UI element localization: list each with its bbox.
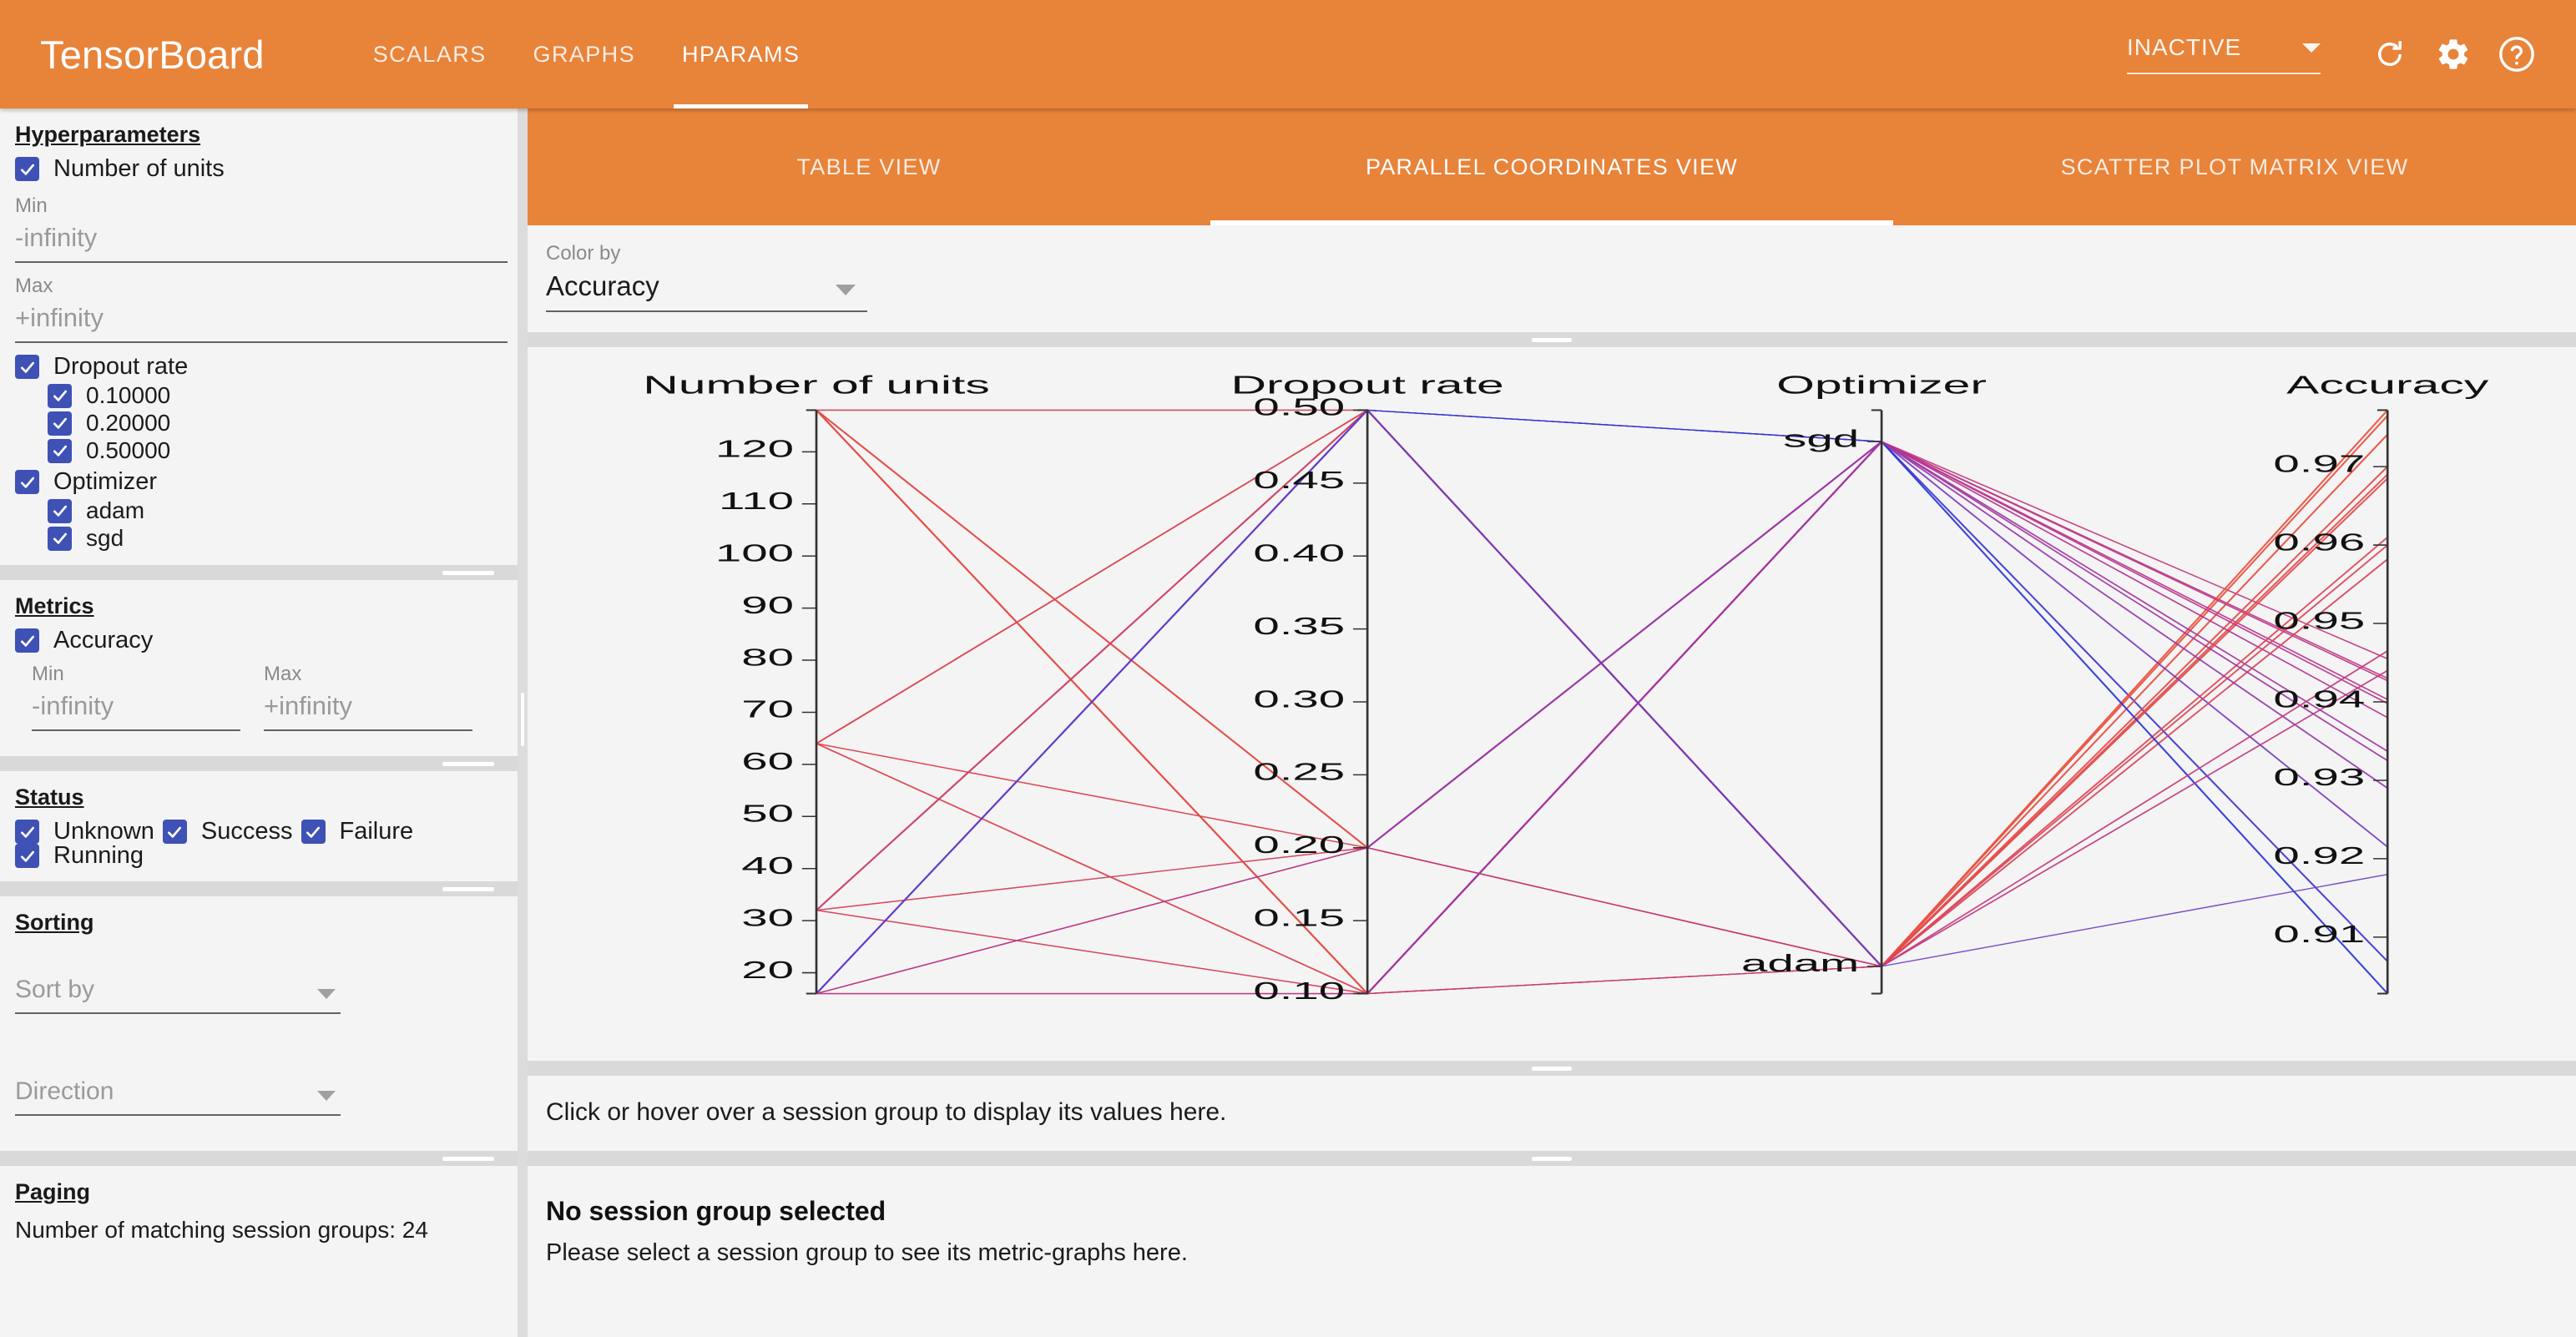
pc-axis-tick-label: 0.94: [2273, 685, 2365, 713]
header-actions: INACTIVE: [2127, 28, 2543, 80]
pc-line: [816, 441, 2387, 848]
pc-axis-tick-label: 50: [741, 800, 794, 827]
dropout-value-label: 0.50000: [86, 437, 170, 464]
hparam-number-of-units[interactable]: Number of units: [15, 155, 518, 183]
sidebar-divider-1[interactable]: [0, 565, 518, 580]
pc-axis-tick-label: 60: [741, 748, 794, 775]
pc-axis-tick-label: 110: [719, 487, 794, 515]
parallel-coordinates-chart[interactable]: Number of units2030405060708090100110120…: [528, 347, 2576, 1061]
pc-axis-tick-label: 0.91: [2273, 921, 2365, 948]
pc-axis-tick-label: adam: [1741, 950, 1859, 977]
status-failure[interactable]: Failure: [301, 818, 414, 845]
session-panel-subtitle: Please select a session group to see its…: [546, 1239, 1188, 1267]
pc-line: [816, 441, 2387, 993]
pc-line: [816, 410, 2387, 966]
dropout-value-label: 0.20000: [86, 410, 170, 436]
pc-axis-tick-label: 0.15: [1253, 904, 1345, 931]
view-tabs: TABLE VIEW PARALLEL COORDINATES VIEW SCA…: [528, 108, 2576, 225]
accuracy-min-label: Min: [32, 663, 240, 686]
chevron-down-icon: [836, 285, 856, 295]
checkbox-checked-icon[interactable]: [15, 628, 39, 653]
tab-scatter-plot-matrix-view[interactable]: SCATTER PLOT MATRIX VIEW: [1893, 108, 2576, 225]
pc-line: [816, 441, 2387, 993]
pc-axis-tick-label: 0.25: [1253, 758, 1345, 785]
status-running[interactable]: Running: [15, 842, 144, 870]
pc-axis-tick-label: 20: [741, 956, 794, 983]
color-by-select[interactable]: Color by Accuracy: [546, 242, 867, 312]
pc-line: [816, 410, 2387, 966]
status-title: Status: [15, 785, 84, 810]
pc-line: [816, 410, 2387, 993]
direction-value: Direction: [15, 1077, 341, 1116]
pc-axis: Number of units2030405060708090100110120: [643, 371, 990, 993]
pc-axis-tick-label: 0.95: [2273, 607, 2365, 634]
checkbox-checked-icon[interactable]: [48, 439, 72, 463]
chevron-down-icon: [2302, 43, 2321, 53]
session-panel-title: No session group selected: [546, 1196, 886, 1227]
optimizer-value-label: adam: [86, 497, 144, 524]
color-by-label: Color by: [546, 242, 867, 265]
nav-item-scalars[interactable]: SCALARS: [350, 0, 510, 108]
hover-panel-resize-handle[interactable]: [528, 1061, 2576, 1076]
metrics-title: Metrics: [15, 593, 94, 619]
sidebar-divider-4[interactable]: [0, 1151, 518, 1166]
pc-axis-tick-label: 70: [741, 695, 794, 723]
checkbox-checked-icon[interactable]: [48, 411, 72, 436]
help-icon[interactable]: [2491, 28, 2543, 80]
pc-line: [816, 410, 2387, 993]
gear-icon[interactable]: [2427, 28, 2479, 80]
pc-axis-tick-label: sgd: [1783, 425, 1859, 452]
pc-axis-tick-label: 120: [715, 435, 794, 462]
pc-axis-tick-label: 0.40: [1253, 539, 1345, 567]
status-checkbox-group: Unknown Success Failure Running: [15, 814, 499, 871]
chart-panel-resize-handle[interactable]: [528, 332, 2576, 347]
tab-parallel-coordinates-view[interactable]: PARALLEL COORDINATES VIEW: [1210, 108, 1893, 225]
paging-section: Paging Number of matching session groups…: [0, 1166, 518, 1244]
accuracy-min-field[interactable]: Min -infinity: [32, 663, 240, 731]
dropout-value-050[interactable]: 0.50000: [48, 437, 518, 464]
pc-line: [816, 410, 2387, 966]
units-max-field[interactable]: Max +infinity: [15, 275, 508, 343]
paging-title: Paging: [15, 1179, 90, 1205]
session-group-panel: No session group selected Please select …: [528, 1166, 2576, 1333]
pc-axis-tick-label: 0.10: [1253, 976, 1345, 1004]
accuracy-max-value: +infinity: [264, 686, 472, 731]
pc-line: [816, 441, 2387, 993]
parallel-coordinates-svg[interactable]: Number of units2030405060708090100110120…: [528, 347, 2576, 1061]
hyperparameters-section: Hyperparameters Number of units Min -inf…: [0, 108, 518, 552]
pc-axis-tick-label: 80: [741, 643, 794, 671]
run-state-value: INACTIVE: [2127, 34, 2241, 61]
pc-line: [816, 467, 2387, 966]
pc-axis-tick-label: 0.93: [2273, 764, 2365, 791]
pc-axis-tick-label: 0.35: [1253, 612, 1345, 639]
metrics-section: Metrics Accuracy Min -infinity Max +infi…: [0, 580, 518, 756]
checkbox-checked-icon[interactable]: [48, 499, 72, 523]
hparam-optimizer[interactable]: Optimizer: [15, 468, 518, 496]
dropout-value-label: 0.10000: [86, 382, 170, 409]
checkbox-checked-icon[interactable]: [15, 820, 39, 844]
units-min-value: -infinity: [15, 218, 508, 263]
status-section: Status Unknown Success Failure: [0, 771, 518, 881]
status-label: Failure: [340, 818, 414, 845]
pc-axis-title: Number of units: [643, 371, 990, 399]
hparam-label: Dropout rate: [53, 353, 188, 381]
pc-axis-title: Optimizer: [1776, 371, 1987, 399]
checkbox-checked-icon[interactable]: [15, 355, 39, 379]
checkbox-checked-icon[interactable]: [15, 157, 39, 181]
session-panel-resize-handle[interactable]: [528, 1151, 2576, 1166]
pc-axis: Accuracy0.910.920.930.940.950.960.97: [2273, 371, 2489, 993]
sidebar-divider-2[interactable]: [0, 756, 518, 771]
main-nav: SCALARS GRAPHS HPARAMS: [350, 0, 824, 108]
metric-accuracy[interactable]: Accuracy: [15, 627, 518, 654]
accuracy-max-field[interactable]: Max +infinity: [264, 663, 472, 731]
direction-select[interactable]: Direction: [15, 1077, 341, 1116]
pc-axis-tick-label: 0.97: [2273, 450, 2365, 477]
hparam-label: Number of units: [53, 155, 225, 183]
pc-axis-tick-label: 40: [741, 852, 794, 880]
sidebar-divider-3[interactable]: [0, 881, 518, 896]
pc-line: [816, 651, 2387, 994]
nav-item-hparams[interactable]: HPARAMS: [659, 0, 823, 108]
main-content: TABLE VIEW PARALLEL COORDINATES VIEW SCA…: [528, 108, 2576, 1337]
metric-range-fields: Min -infinity Max +infinity: [32, 663, 518, 731]
pc-axis-tick-label: 0.92: [2273, 842, 2365, 870]
checkbox-checked-icon[interactable]: [163, 820, 187, 844]
status-label: Running: [53, 842, 144, 870]
chevron-down-icon: [317, 1091, 336, 1101]
pc-axis-tick-label: 0.50: [1253, 393, 1345, 421]
units-min-label: Min: [15, 194, 508, 218]
pc-axis: Dropout rate0.100.150.200.250.300.350.40…: [1230, 371, 1503, 1004]
pc-axis-tick-label: 0.20: [1253, 831, 1345, 859]
dropout-value-020[interactable]: 0.20000: [48, 410, 518, 436]
sort-by-select[interactable]: Sort by: [15, 976, 341, 1014]
pc-line: [816, 410, 2387, 961]
dropout-value-010[interactable]: 0.10000: [48, 382, 518, 409]
optimizer-value-sgd[interactable]: sgd: [48, 525, 518, 552]
hyperparameters-title: Hyperparameters: [15, 122, 200, 148]
session-hover-panel: Click or hover over a session group to d…: [528, 1076, 2576, 1151]
app-title: TensorBoard: [40, 32, 265, 78]
checkbox-checked-icon[interactable]: [15, 470, 39, 494]
hover-hint-text: Click or hover over a session group to d…: [546, 1098, 1226, 1127]
pc-line: [816, 410, 2387, 993]
metric-label: Accuracy: [53, 627, 153, 654]
app-header: TensorBoard SCALARS GRAPHS HPARAMS INACT…: [0, 0, 2576, 108]
pc-axis-tick-label: 90: [741, 591, 794, 618]
hparam-dropout-rate[interactable]: Dropout rate: [15, 353, 518, 381]
tab-table-view[interactable]: TABLE VIEW: [528, 108, 1210, 225]
sorting-title: Sorting: [15, 910, 94, 936]
left-sidebar: Hyperparameters Number of units Min -inf…: [0, 108, 518, 1337]
nav-item-graphs[interactable]: GRAPHS: [510, 0, 659, 108]
pc-line: [816, 441, 2387, 910]
hparam-label: Optimizer: [53, 468, 157, 496]
pc-line: [816, 441, 2387, 993]
color-by-bar: Color by Accuracy: [528, 225, 2576, 332]
units-max-value: +infinity: [15, 298, 508, 343]
checkbox-checked-icon[interactable]: [15, 844, 39, 868]
status-label: Success: [201, 818, 293, 845]
color-by-value: Accuracy: [546, 265, 867, 312]
refresh-icon[interactable]: [2364, 28, 2416, 80]
pc-axis-tick-label: 0.30: [1253, 685, 1345, 713]
checkbox-checked-icon[interactable]: [48, 527, 72, 551]
optimizer-value-adam[interactable]: adam: [48, 497, 518, 524]
optimizer-value-label: sgd: [86, 525, 124, 552]
pc-line: [816, 410, 2387, 847]
pc-axis-tick-label: 30: [741, 904, 794, 931]
accuracy-min-value: -infinity: [32, 686, 240, 731]
pc-axis-tick-label: 0.45: [1253, 467, 1345, 494]
units-min-field[interactable]: Min -infinity: [15, 194, 508, 263]
pc-line: [816, 410, 2387, 966]
sort-by-value: Sort by: [15, 976, 341, 1014]
sidebar-resize-handle[interactable]: [518, 108, 528, 1337]
pc-line: [816, 410, 2387, 993]
status-success[interactable]: Success: [163, 818, 293, 845]
accuracy-max-label: Max: [264, 663, 472, 686]
pc-axis-tick-label: 0.96: [2273, 528, 2365, 556]
chevron-down-icon: [317, 989, 336, 999]
matching-session-groups-count: Number of matching session groups: 24: [15, 1217, 518, 1244]
pc-axis-title: Accuracy: [2286, 371, 2489, 399]
pc-axis-tick-label: 100: [715, 539, 794, 567]
units-max-label: Max: [15, 275, 508, 298]
checkbox-checked-icon[interactable]: [48, 384, 72, 408]
checkbox-checked-icon[interactable]: [301, 820, 326, 844]
sorting-section: Sorting Sort by Direction: [0, 896, 518, 1151]
run-state-select[interactable]: INACTIVE: [2127, 34, 2321, 74]
